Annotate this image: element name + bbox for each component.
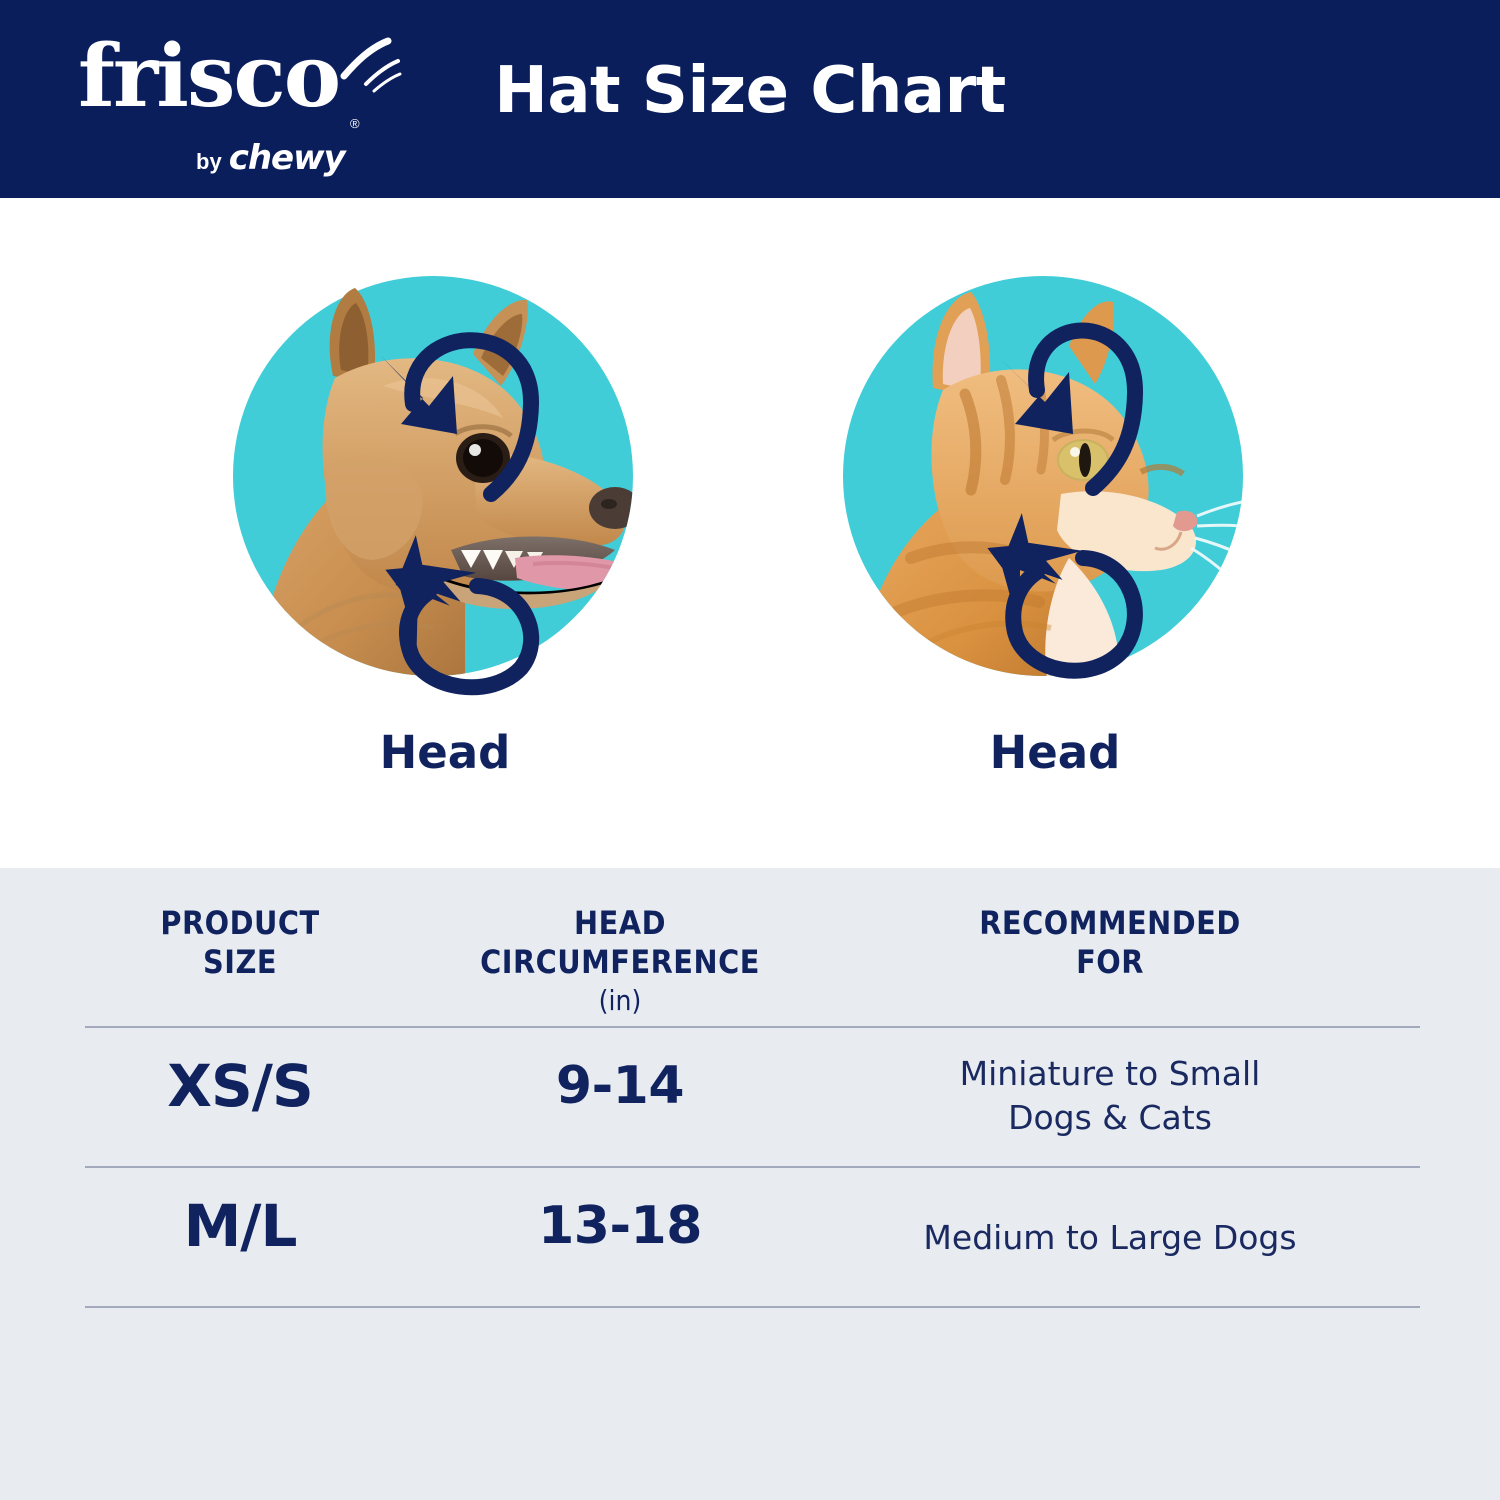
cat-head-label: Head bbox=[825, 726, 1285, 779]
table-header-row: PRODUCT SIZE HEAD CIRCUMFERENCE (in) REC… bbox=[0, 868, 1500, 1028]
cell-product-size: XS/S bbox=[85, 1028, 395, 1120]
size-chart-page: frisco ® by chewy Hat Size Chart bbox=[0, 0, 1500, 1500]
chewy-wordmark: chewy bbox=[229, 138, 345, 178]
dog-photo bbox=[215, 258, 675, 718]
page-header: frisco ® by chewy Hat Size Chart bbox=[0, 0, 1500, 198]
col1-line1: PRODUCT bbox=[160, 904, 319, 942]
size-table-section: PRODUCT SIZE HEAD CIRCUMFERENCE (in) REC… bbox=[0, 868, 1500, 1500]
row1-rec-line2: Dogs & Cats bbox=[1008, 1098, 1212, 1137]
table-row: M/L 13-18 Medium to Large Dogs bbox=[0, 1168, 1500, 1308]
cell-recommended-for: Miniature to Small Dogs & Cats bbox=[860, 1028, 1360, 1139]
cat-photo bbox=[825, 258, 1285, 718]
brand-byline: by chewy bbox=[196, 138, 345, 178]
dog-head-label: Head bbox=[215, 726, 675, 779]
cell-head-circumference: 13-18 bbox=[425, 1168, 815, 1256]
cat-figure bbox=[825, 258, 1285, 718]
row1-rec-line1: Miniature to Small bbox=[960, 1054, 1261, 1093]
col2-unit: (in) bbox=[425, 984, 815, 1018]
column-header-recommended-for: RECOMMENDED FOR bbox=[860, 868, 1360, 982]
cat-illustration-block: Head bbox=[825, 258, 1285, 818]
col3-line1: RECOMMENDED bbox=[979, 904, 1241, 942]
size-table: PRODUCT SIZE HEAD CIRCUMFERENCE (in) REC… bbox=[0, 868, 1500, 1308]
illustration-band: Head bbox=[0, 198, 1500, 868]
column-header-product-size: PRODUCT SIZE bbox=[85, 868, 395, 982]
table-row: XS/S 9-14 Miniature to Small Dogs & Cats bbox=[0, 1028, 1500, 1168]
table-divider bbox=[85, 1306, 1420, 1308]
byline-by-text: by bbox=[196, 149, 222, 175]
col1-line2: SIZE bbox=[203, 943, 277, 981]
col2-line1: HEAD bbox=[574, 904, 666, 942]
dog-illustration-block: Head bbox=[215, 258, 675, 818]
col2-line2: CIRCUMFERENCE bbox=[480, 943, 760, 981]
col3-line2: FOR bbox=[1076, 943, 1144, 981]
column-header-head-circumference: HEAD CIRCUMFERENCE (in) bbox=[425, 868, 815, 1018]
dog-figure bbox=[215, 258, 675, 718]
page-title: Hat Size Chart bbox=[0, 54, 1500, 128]
cell-recommended-for: Medium to Large Dogs bbox=[860, 1168, 1360, 1260]
cell-head-circumference: 9-14 bbox=[425, 1028, 815, 1116]
cell-product-size: M/L bbox=[85, 1168, 395, 1260]
